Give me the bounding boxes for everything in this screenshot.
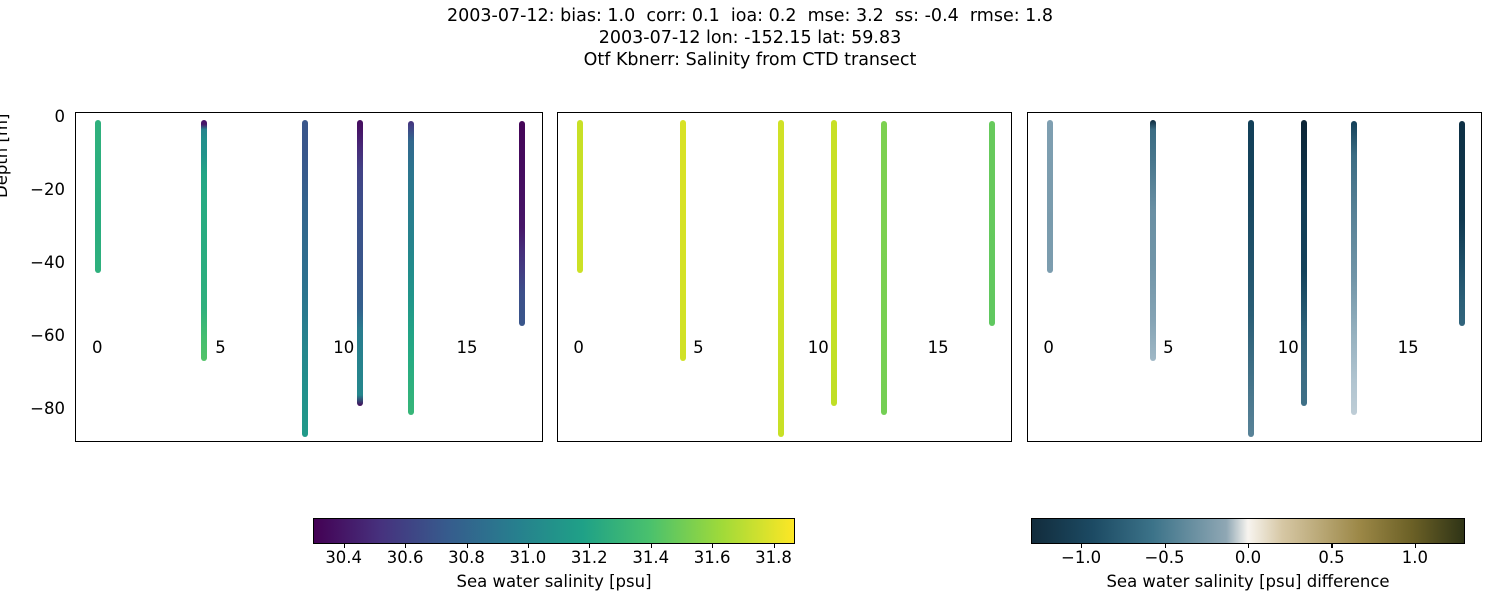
colorbar-tick-label: 31.2 [554,548,624,567]
colorbar-tick-label: 30.6 [370,548,440,567]
colorbar-tick-label: 31.8 [739,548,809,567]
colorbar-tick-label: 0.0 [1213,548,1283,567]
figure-suptitle-line-2: 2003-07-12 lon: -152.15 lat: 59.83 [0,28,1500,49]
profile-cast-2 [1150,120,1156,361]
x-axis-tick-label: 15 [437,338,497,357]
x-axis-tick-label: 15 [1378,338,1438,357]
y-axis-tick-label: −20 [5,182,65,199]
y-axis-tick [557,410,558,411]
panel-ciofs[interactable]: CIOFS along-transect distance [km] [557,112,1012,442]
profile-cast-2 [201,120,207,361]
profile-cast-3 [302,120,308,437]
figure-canvas: 2003-07-12: bias: 1.0 corr: 0.1 ioa: 0.2… [0,0,1500,600]
profile-cast-4 [1301,120,1307,406]
y-axis-tick-label: −60 [5,328,65,345]
y-axis-tick [557,264,558,265]
y-axis-tick [1027,410,1028,411]
y-axis-tick [1027,118,1028,119]
profile-cast-6 [1459,121,1465,326]
x-axis-tick-label: 10 [314,338,374,357]
x-axis-tick-label: 15 [908,338,968,357]
x-axis-tick [699,441,700,442]
colorbar-difference-label: Sea water salinity [psu] difference [1031,572,1465,591]
x-axis-tick [345,441,346,442]
x-axis-tick [1050,441,1051,442]
profile-cast-2 [680,120,686,361]
y-axis-tick-label: 0 [5,109,65,126]
profile-cast-4 [357,120,363,406]
panel-obs-minus-model[interactable]: Obs - Model along-transect distance [km] [1027,112,1482,442]
profile-cast-6 [989,121,995,326]
colorbar-tick-label: 30.8 [432,548,502,567]
colorbar-salinity-label: Sea water salinity [psu] [313,572,795,591]
profile-cast-4 [831,120,837,406]
x-axis-tick-label: 0 [1019,338,1079,357]
y-axis-tick [1027,264,1028,265]
profile-cast-3 [1248,120,1254,437]
figure-suptitle-line-3: Otf Kbnerr: Salinity from CTD transect [0,50,1500,71]
x-axis-tick [939,441,940,442]
x-axis-tick-label: 0 [67,338,127,357]
x-axis-tick [468,441,469,442]
panel-observation[interactable]: Observation along-transect distance [km] [75,112,543,442]
y-axis-tick [557,191,558,192]
y-axis-tick [75,264,76,265]
profile-cast-1 [577,120,583,273]
profile-cast-1 [95,120,101,273]
profile-cast-3 [778,120,784,437]
profile-cast-6 [519,121,525,326]
colorbar-tick-label: 0.5 [1296,548,1366,567]
colorbar-salinity-difference [1031,518,1465,544]
colorbar-tick-label: 31.6 [677,548,747,567]
colorbar-salinity [313,518,795,544]
y-axis-tick [75,191,76,192]
y-axis-tick-label: −40 [5,255,65,272]
x-axis-tick-label: 5 [190,338,250,357]
y-axis-tick-label: −80 [5,401,65,418]
x-axis-tick-label: 10 [788,338,848,357]
profile-cast-5 [881,121,887,416]
x-axis-tick-label: 5 [1138,338,1198,357]
profile-cast-1 [1047,120,1053,273]
profile-cast-5 [408,121,414,416]
colorbar-tick-label: 1.0 [1380,548,1450,567]
figure-suptitle-line-1: 2003-07-12: bias: 1.0 corr: 0.1 ioa: 0.2… [0,6,1500,27]
x-axis-tick [819,441,820,442]
colorbar-tick-label: 31.4 [616,548,686,567]
x-axis-tick [1409,441,1410,442]
colorbar-tick-label: −0.5 [1130,548,1200,567]
x-axis-tick [1169,441,1170,442]
x-axis-tick-label: 5 [668,338,728,357]
colorbar-tick-label: 30.4 [309,548,379,567]
colorbar-tick-label: 31.0 [493,548,563,567]
x-axis-tick-label: 0 [549,338,609,357]
x-axis-tick [221,441,222,442]
y-axis-tick [557,118,558,119]
colorbar-tick-label: −1.0 [1046,548,1116,567]
y-axis-tick [75,410,76,411]
x-axis-tick [98,441,99,442]
y-axis-tick [1027,191,1028,192]
x-axis-tick [1289,441,1290,442]
y-axis-tick [75,118,76,119]
x-axis-tick-label: 10 [1258,338,1318,357]
x-axis-tick [580,441,581,442]
profile-cast-5 [1351,121,1357,416]
